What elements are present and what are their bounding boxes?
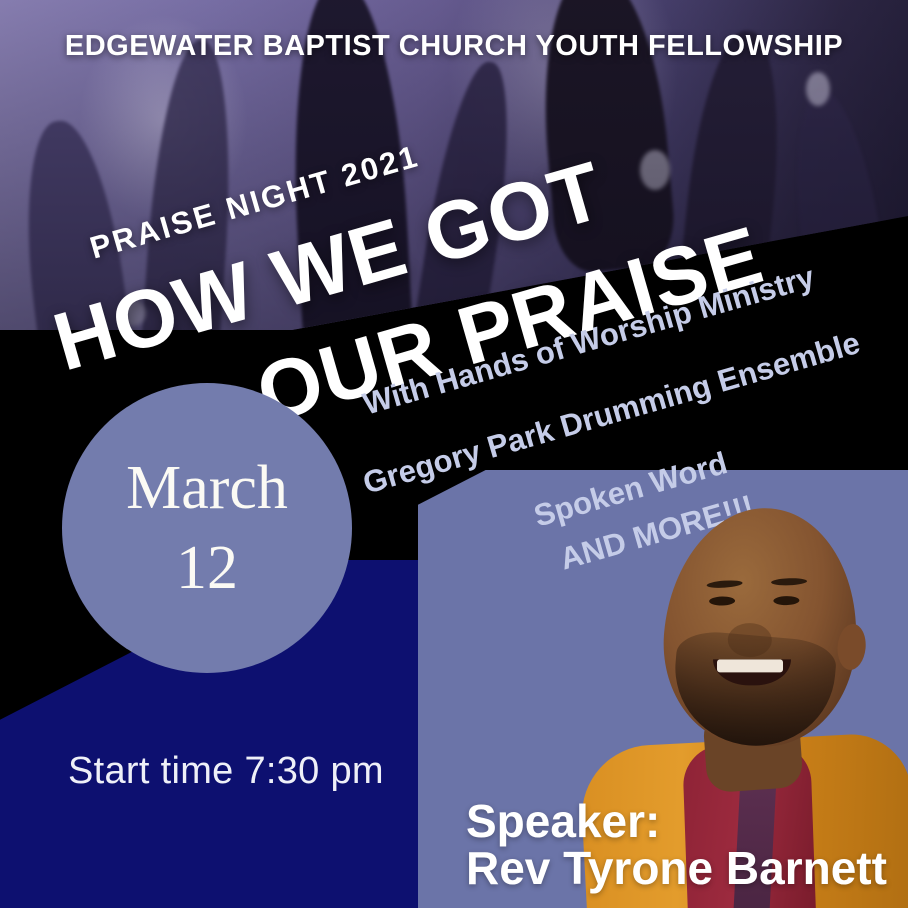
- teeth-shape: [717, 659, 783, 672]
- head-shape: [655, 500, 867, 754]
- eyebrow-shape: [771, 578, 807, 586]
- bokeh-light: [640, 150, 670, 190]
- date-badge: March 12: [62, 383, 352, 673]
- speaker-caption: Speaker: Rev Tyrone Barnett: [466, 798, 887, 892]
- eyebrow-shape: [706, 579, 742, 588]
- bokeh-light: [806, 72, 830, 106]
- eye-shape: [773, 596, 799, 605]
- organization-header: EDGEWATER BAPTIST CHURCH YOUTH FELLOWSHI…: [0, 30, 908, 63]
- start-time-text: Start time 7:30 pm: [68, 750, 384, 793]
- speaker-name: Rev Tyrone Barnett: [466, 845, 887, 892]
- eye-shape: [709, 596, 735, 605]
- ear-shape: [836, 623, 868, 671]
- date-day: 12: [176, 537, 238, 599]
- speaker-label: Speaker:: [466, 795, 660, 847]
- event-flyer: EDGEWATER BAPTIST CHURCH YOUTH FELLOWSHI…: [0, 0, 908, 908]
- date-month: March: [126, 457, 288, 519]
